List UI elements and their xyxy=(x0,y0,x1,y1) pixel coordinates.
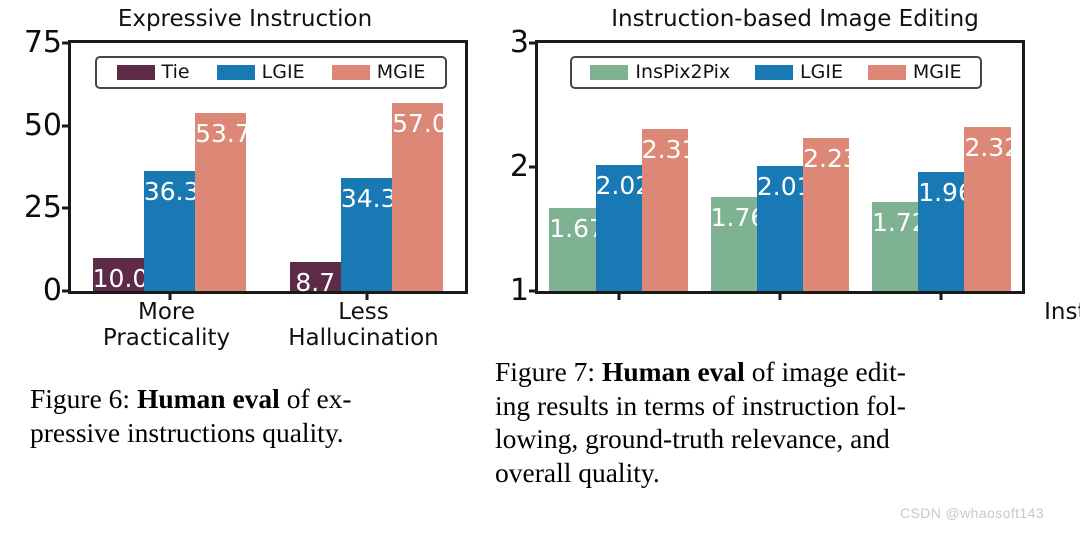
y-axis-tick-mark xyxy=(529,290,538,293)
x-axis-category-label-line: Practicality xyxy=(103,326,230,352)
y-axis-tick-label: 25 xyxy=(24,193,62,223)
figure-7-legend: InsPix2PixLGIEMGIE xyxy=(570,56,982,89)
y-axis-tick-mark xyxy=(62,207,71,210)
bar-lgie: 2.02 xyxy=(596,165,642,291)
figure-7-plot-area: 123 1.672.022.311.762.012.231.721.962.32… xyxy=(535,40,1025,294)
y-axis-tick-label: 3 xyxy=(510,28,529,58)
bar-lgie: 36.3 xyxy=(144,171,195,291)
bar-lgie: 1.96 xyxy=(918,172,964,291)
bar-lgie: 34.3 xyxy=(341,178,392,291)
legend-swatch-icon xyxy=(868,65,906,80)
legend-swatch-icon xyxy=(590,65,628,80)
bar-inspix2pix: 1.67 xyxy=(549,208,595,291)
figure-6-chart-title: Expressive Instruction xyxy=(0,8,490,31)
bar-mgie: 57.0 xyxy=(392,103,443,291)
bar-value-label: 2.32 xyxy=(964,135,1010,160)
bar-value-label: 53.7 xyxy=(195,121,246,146)
bar-value-label: 1.72 xyxy=(872,210,918,235)
y-axis-tick-mark xyxy=(62,42,71,45)
figure-6-legend: TieLGIEMGIE xyxy=(95,56,447,89)
legend-swatch-icon xyxy=(217,65,255,80)
legend-swatch-icon xyxy=(755,65,793,80)
bar-mgie: 2.23 xyxy=(803,138,849,291)
figure-7-caption-line4: overall quality. xyxy=(495,456,1055,490)
legend-entry-mgie[interactable]: MGIE xyxy=(868,63,962,82)
legend-entry-mgie[interactable]: MGIE xyxy=(332,63,426,82)
y-axis-tick-mark xyxy=(529,42,538,45)
x-axis-tick-mark xyxy=(617,291,620,300)
legend-label: LGIE xyxy=(800,63,843,82)
figure-7-caption-bold: Human eval xyxy=(602,356,745,387)
y-axis-tick-label: 50 xyxy=(24,111,62,141)
legend-swatch-icon xyxy=(117,65,155,80)
figure-6-caption: Figure 6: Human eval of ex- pressive ins… xyxy=(30,382,480,449)
x-axis-tick-mark xyxy=(779,291,782,300)
bar-value-label: 1.96 xyxy=(918,180,964,205)
figure-7-caption-suffix: of image edit- xyxy=(745,356,906,387)
csdn-watermark: CSDN @whaosoft143 xyxy=(900,505,1044,521)
bar-value-label: 2.31 xyxy=(642,137,688,162)
figure-7-caption-line2: ing results in terms of instruction fol- xyxy=(495,389,1055,423)
bar-value-label: 2.02 xyxy=(596,173,642,198)
x-axis-category-label: MorePracticality xyxy=(103,300,230,352)
bar-value-label: 10.0 xyxy=(93,266,144,291)
y-axis-tick-mark xyxy=(62,290,71,293)
figure-7-caption-prefix: Figure 7: xyxy=(495,356,602,387)
legend-entry-lgie[interactable]: LGIE xyxy=(217,63,305,82)
bar-inspix2pix: 1.72 xyxy=(872,202,918,291)
bar-value-label: 2.01 xyxy=(757,174,803,199)
x-axis-category-label: Instruction xyxy=(1044,300,1080,326)
figure-7-caption-line3: lowing, ground-truth relevance, and xyxy=(495,422,1055,456)
bar-value-label: 1.67 xyxy=(549,216,595,241)
x-axis-category-label-line: Instruction xyxy=(1044,300,1080,326)
bar-value-label: 34.3 xyxy=(341,186,392,211)
bar-mgie: 2.31 xyxy=(642,129,688,291)
y-axis-tick-label: 1 xyxy=(510,276,529,306)
figure-6-panel: Expressive Instruction 0255075 10.036.35… xyxy=(0,0,490,370)
bar-mgie: 53.7 xyxy=(195,113,246,291)
figure-6-plot-area: 0255075 10.036.353.78.734.357.0 TieLGIEM… xyxy=(68,40,468,294)
bar-value-label: 36.3 xyxy=(144,179,195,204)
x-axis-category-label: LessHallucination xyxy=(288,300,439,352)
y-axis-tick-mark xyxy=(62,124,71,127)
y-axis-tick-label: 75 xyxy=(24,28,62,58)
legend-entry-tie[interactable]: Tie xyxy=(117,63,190,82)
legend-label: InsPix2Pix xyxy=(635,63,730,82)
bar-tie: 10.0 xyxy=(93,258,144,291)
bar-value-label: 1.76 xyxy=(711,205,757,230)
figure-7-panel: Instruction-based Image Editing 123 1.67… xyxy=(490,0,1080,340)
figure-7-caption: Figure 7: Human eval of image edit- ing … xyxy=(495,355,1055,489)
legend-label: Tie xyxy=(162,63,190,82)
x-axis-tick-mark xyxy=(940,291,943,300)
y-axis-tick-mark xyxy=(529,166,538,169)
legend-label: MGIE xyxy=(913,63,962,82)
bar-inspix2pix: 1.76 xyxy=(711,197,757,291)
y-axis-tick-label: 0 xyxy=(43,276,62,306)
bar-value-label: 57.0 xyxy=(392,111,443,136)
y-axis-tick-label: 2 xyxy=(510,152,529,182)
figure-6-caption-line2: pressive instructions quality. xyxy=(30,416,480,450)
x-axis-category-label-line: Hallucination xyxy=(288,326,439,352)
bar-value-label: 8.7 xyxy=(290,270,341,295)
bar-tie: 8.7 xyxy=(290,262,341,291)
x-axis-category-label-line: Less xyxy=(288,300,439,326)
bar-value-label: 2.23 xyxy=(803,146,849,171)
legend-entry-inspix2pix[interactable]: InsPix2Pix xyxy=(590,63,730,82)
figure-6-caption-bold: Human eval xyxy=(137,383,280,414)
legend-label: LGIE xyxy=(262,63,305,82)
legend-entry-lgie[interactable]: LGIE xyxy=(755,63,843,82)
figure-6-caption-suffix: of ex- xyxy=(280,383,352,414)
legend-swatch-icon xyxy=(332,65,370,80)
bar-lgie: 2.01 xyxy=(757,166,803,291)
legend-label: MGIE xyxy=(377,63,426,82)
figure-7-chart-title: Instruction-based Image Editing xyxy=(510,8,1080,31)
x-axis-category-label-line: More xyxy=(103,300,230,326)
figure-6-caption-prefix: Figure 6: xyxy=(30,383,137,414)
bar-mgie: 2.32 xyxy=(964,127,1010,291)
